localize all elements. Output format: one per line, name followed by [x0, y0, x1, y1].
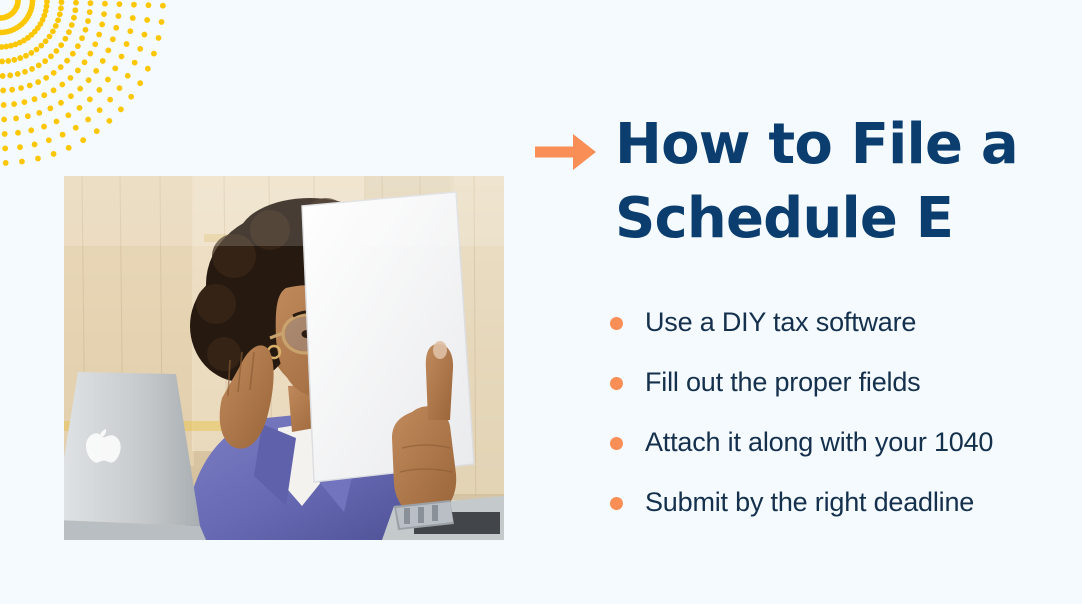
bullet-dot-icon: [610, 437, 623, 450]
arrow-right-icon: [535, 132, 597, 172]
page-title: How to File a Schedule E: [615, 108, 1018, 257]
list-item-label: Submit by the right deadline: [645, 488, 974, 518]
list-item[interactable]: Use a DIY tax software: [610, 293, 1060, 353]
photo-woman-reviewing-tax-document: [64, 176, 504, 540]
content-column: How to File a Schedule E Use a DIY tax s…: [535, 108, 1055, 257]
list-item-label: Fill out the proper fields: [645, 368, 920, 398]
list-item-label: Use a DIY tax software: [645, 308, 916, 338]
list-item[interactable]: Fill out the proper fields: [610, 353, 1060, 413]
title-row: How to File a Schedule E: [535, 108, 1055, 257]
list-item-label: Attach it along with your 1040: [645, 428, 993, 458]
bullet-dot-icon: [610, 377, 623, 390]
list-item[interactable]: Attach it along with your 1040: [610, 413, 1060, 473]
bullet-list: Use a DIY tax software Fill out the prop…: [610, 293, 1060, 533]
bullet-dot-icon: [610, 497, 623, 510]
bullet-dot-icon: [610, 317, 623, 330]
slide-canvas: How to File a Schedule E Use a DIY tax s…: [0, 0, 1082, 604]
list-item[interactable]: Submit by the right deadline: [610, 473, 1060, 533]
decorative-dot-fan: [0, 0, 200, 170]
